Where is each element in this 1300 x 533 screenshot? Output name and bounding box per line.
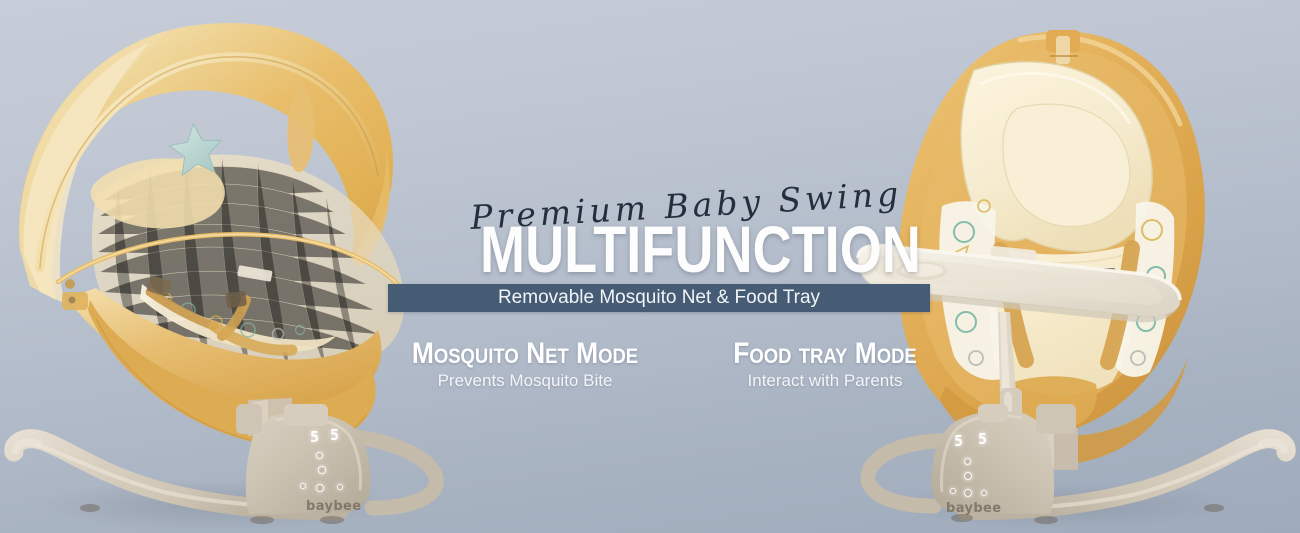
left-led-indicator-2 [318,466,326,474]
left-brand-logo: baybee [306,499,362,514]
right-led-indicator-5 [981,490,987,496]
left-base: 5 5 baybee [0,404,470,533]
right-led-indicator-3 [950,488,956,494]
right-led-digit-right: 5 [978,430,987,448]
left-led-digit-left: 5 [310,428,319,446]
right-led-indicator-4 [964,489,972,497]
mode-food-tray: Food tray Mode Interact with Parents [700,338,950,391]
mode-food-tray-subtitle: Interact with Parents [700,371,950,391]
right-led-digit-left: 5 [954,432,963,450]
mode-mosquito-net-subtitle: Prevents Mosquito Bite [380,371,670,391]
left-led-indicator-5 [337,484,343,490]
left-product-baby-swing: 5 5 baybee [0,0,470,533]
subtitle-ribbon: Removable Mosquito Net & Food Tray [388,284,930,312]
right-base-illustration [850,404,1300,533]
control-panel-housing-right [932,411,1055,514]
left-led-indicator-4 [316,484,324,492]
left-led-indicator-1 [316,452,323,459]
right-led-indicator-1 [964,458,971,465]
mode-food-tray-title: Food tray Mode [715,338,935,370]
mode-mosquito-net: Mosquito Net Mode Prevents Mosquito Bite [380,338,670,391]
right-base: 5 5 baybee [850,404,1300,533]
right-brand-logo: baybee [946,501,1002,516]
right-led-indicator-2 [964,472,972,480]
subtitle-ribbon-text: Removable Mosquito Net & Food Tray [498,287,820,309]
left-base-illustration [0,404,470,533]
product-banner: 5 5 baybee [0,0,1300,533]
mode-mosquito-net-title: Mosquito Net Mode [397,338,652,370]
left-led-digit-right: 5 [330,426,339,444]
left-led-indicator-3 [300,483,306,489]
